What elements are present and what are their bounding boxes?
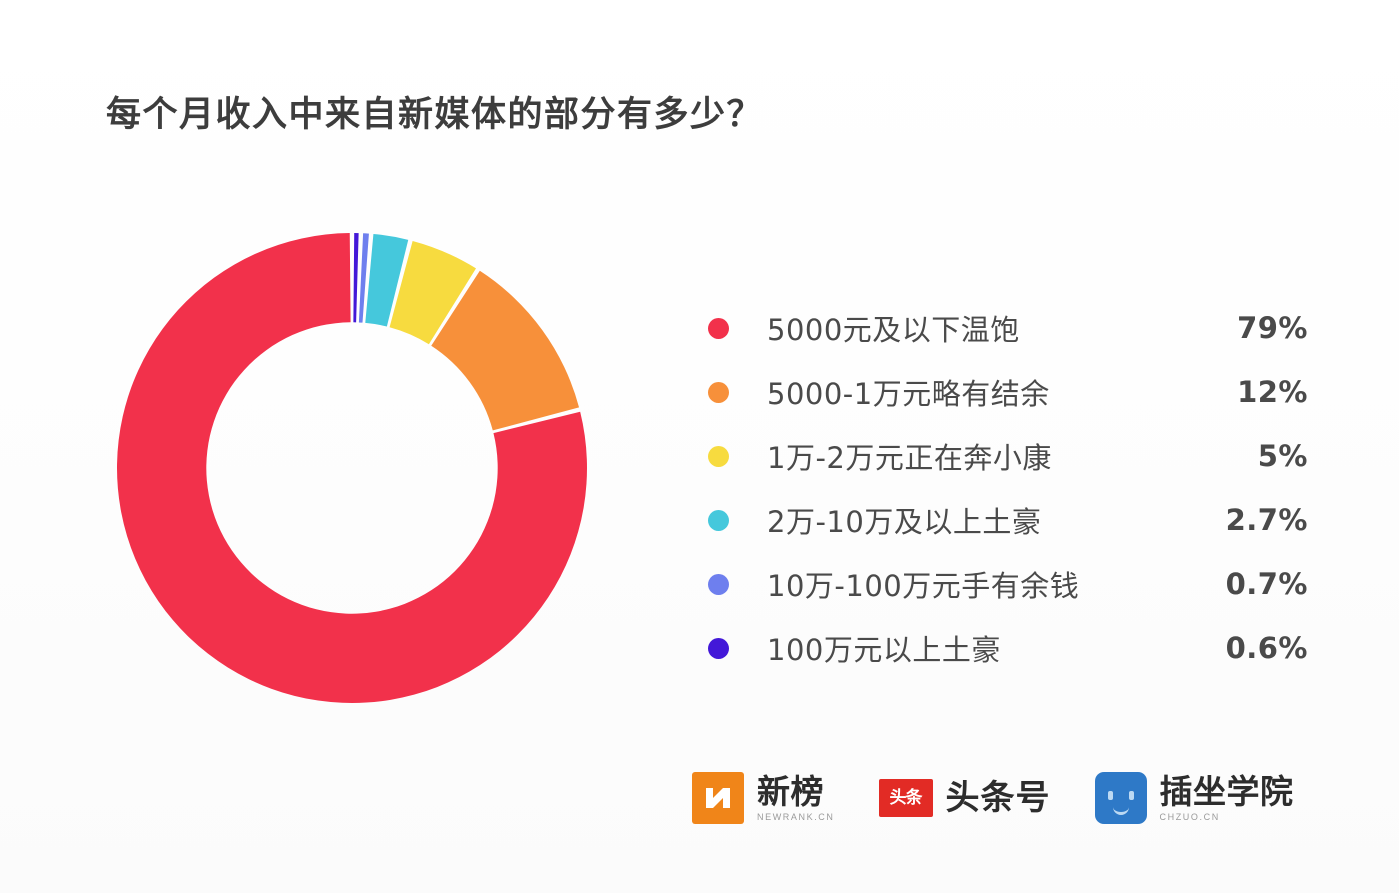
chart-legend: 5000元及以下温饱 79% 5000-1万元略有结余 12% 1万-2万元正在… <box>708 296 1308 680</box>
legend-item-0[interactable]: 5000元及以下温饱 79% <box>708 296 1308 360</box>
newrank-glyph-icon <box>701 781 735 815</box>
legend-item-2[interactable]: 1万-2万元正在奔小康 5% <box>708 424 1308 488</box>
footer-logo-strip: 新榜 NEWRANK.CN 头条 头条号 插坐学院 CHZUO.CN <box>692 772 1294 824</box>
toutiao-text-block: 头条号 <box>946 781 1051 815</box>
legend-value-5: 0.6% <box>1188 631 1308 665</box>
legend-item-1[interactable]: 5000-1万元略有结余 12% <box>708 360 1308 424</box>
newrank-sub: NEWRANK.CN <box>757 813 835 822</box>
legend-label-1: 5000-1万元略有结余 <box>767 371 1188 413</box>
legend-label-5: 100万元以上土豪 <box>767 627 1188 669</box>
legend-value-1: 12% <box>1188 375 1308 409</box>
legend-value-4: 0.7% <box>1188 567 1308 601</box>
chazuo-smile-icon <box>1113 805 1129 815</box>
legend-label-2: 1万-2万元正在奔小康 <box>767 435 1188 477</box>
legend-color-swatch-icon-0 <box>708 318 729 339</box>
chazuo-text-block: 插坐学院 CHZUO.CN <box>1160 775 1294 822</box>
logo-toutiaohao[interactable]: 头条 头条号 <box>879 779 1051 817</box>
chazuo-name: 插坐学院 <box>1160 775 1294 808</box>
legend-color-swatch-icon-4 <box>708 574 729 595</box>
page-title: 每个月收入中来自新媒体的部分有多少？ <box>106 86 763 137</box>
legend-value-0: 79% <box>1188 311 1308 345</box>
toutiao-mark-icon: 头条 <box>879 779 933 817</box>
legend-color-swatch-icon-3 <box>708 510 729 531</box>
logo-newrank[interactable]: 新榜 NEWRANK.CN <box>692 772 835 824</box>
legend-label-0: 5000元及以下温饱 <box>767 307 1188 349</box>
chazuo-mark-icon <box>1095 772 1147 824</box>
donut-slice-group <box>117 233 587 703</box>
legend-item-5[interactable]: 100万元以上土豪 0.6% <box>708 616 1308 680</box>
newrank-name: 新榜 <box>757 775 835 808</box>
donut-slice-5[interactable] <box>353 233 358 322</box>
legend-color-swatch-icon-1 <box>708 382 729 403</box>
legend-value-3: 2.7% <box>1188 503 1308 537</box>
legend-item-3[interactable]: 2万-10万及以上土豪 2.7% <box>708 488 1308 552</box>
legend-value-2: 5% <box>1188 439 1308 473</box>
donut-chart-svg <box>112 228 592 708</box>
toutiao-name: 头条号 <box>946 781 1051 815</box>
chart-canvas: 每个月收入中来自新媒体的部分有多少？ 5000元及以下温饱 79% 5000-1… <box>0 0 1399 893</box>
legend-item-4[interactable]: 10万-100万元手有余钱 0.7% <box>708 552 1308 616</box>
chazuo-left-eye-icon <box>1108 791 1113 800</box>
legend-color-swatch-icon-5 <box>708 638 729 659</box>
chazuo-right-eye-icon <box>1129 791 1134 800</box>
newrank-text-block: 新榜 NEWRANK.CN <box>757 775 835 822</box>
legend-label-3: 2万-10万及以上土豪 <box>767 499 1188 541</box>
donut-chart <box>112 228 592 708</box>
legend-label-4: 10万-100万元手有余钱 <box>767 563 1188 605</box>
newrank-mark-icon <box>692 772 744 824</box>
logo-chazuo[interactable]: 插坐学院 CHZUO.CN <box>1095 772 1294 824</box>
legend-color-swatch-icon-2 <box>708 446 729 467</box>
chazuo-sub: CHZUO.CN <box>1160 813 1294 822</box>
